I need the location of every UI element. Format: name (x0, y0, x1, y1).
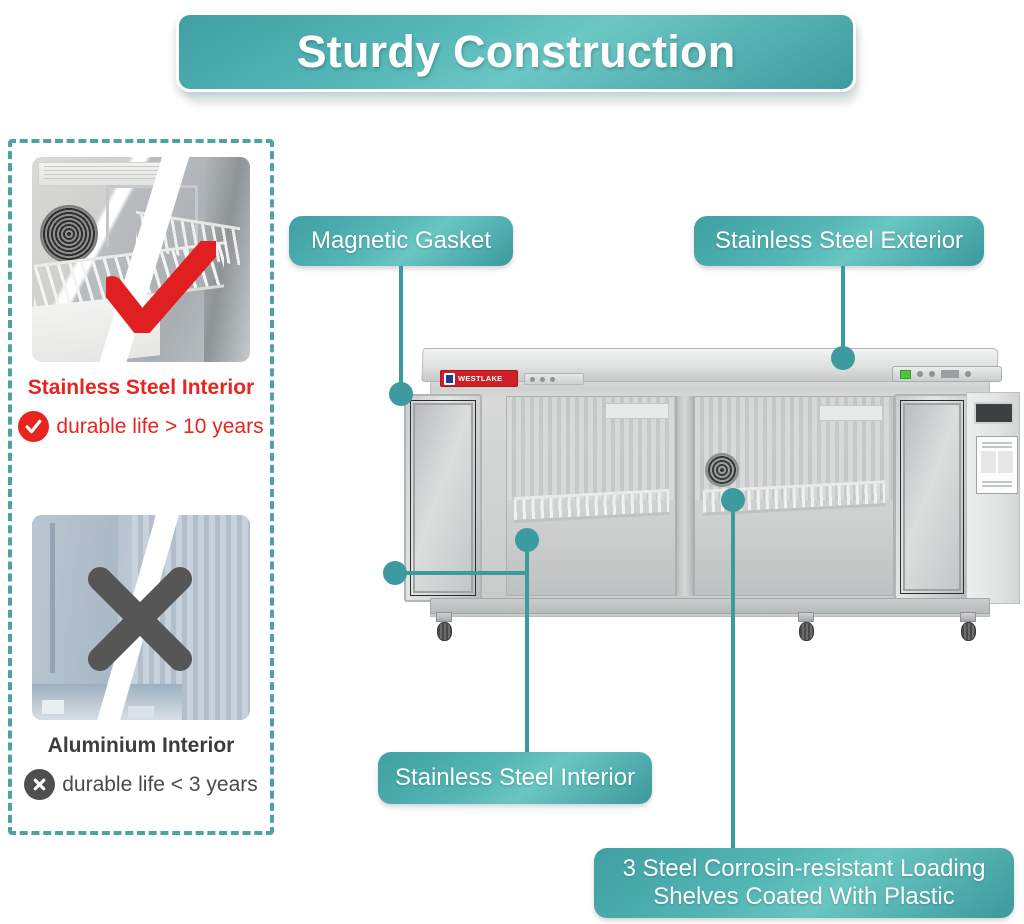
connector-dot-stainless-exterior (831, 346, 855, 370)
right-door-open[interactable] (894, 394, 970, 600)
cross-circle-icon (24, 769, 55, 800)
stainless-steel-interior-photo (32, 157, 250, 362)
page-title: Sturdy Construction (297, 26, 736, 78)
good-caption: Stainless Steel Interior (12, 376, 270, 400)
undercounter-refrigerator-image: WESTLAKE (400, 340, 1020, 670)
right-control-panel[interactable] (892, 366, 1002, 382)
bad-life-row: durable life < 3 years (12, 769, 270, 800)
connector-line-magnetic-gasket (399, 266, 403, 390)
bad-life-text: durable life < 3 years (62, 773, 258, 797)
brand-badge: WESTLAKE (440, 370, 518, 387)
callout-magnetic-gasket-label: Magnetic Gasket (311, 227, 491, 255)
infographic-canvas: Sturdy Construction Stainless Steel Inte… (0, 0, 1024, 924)
connector-line-loading-shelves (731, 500, 735, 850)
base-rail (430, 598, 990, 614)
callout-stainless-exterior-label: Stainless Steel Exterior (715, 227, 963, 255)
good-life-text: durable life > 10 years (56, 415, 263, 439)
callout-loading-shelves-line2: Shelves Coated With Plastic (653, 883, 954, 911)
display-window (941, 370, 959, 378)
vent-grille (974, 402, 1014, 424)
good-life-row: durable life > 10 years (12, 411, 270, 442)
callout-stainless-interior-label: Stainless Steel Interior (395, 764, 635, 792)
callout-stainless-exterior[interactable]: Stainless Steel Exterior (694, 216, 984, 266)
bad-caption: Aluminium Interior (12, 734, 270, 758)
caster-wheel (798, 612, 814, 642)
center-divider-left (676, 396, 694, 596)
connector-line-stainless-exterior (841, 266, 845, 356)
spec-label (976, 436, 1018, 494)
red-check-icon (106, 241, 216, 333)
caster-wheel (436, 612, 452, 642)
callout-magnetic-gasket[interactable]: Magnetic Gasket (289, 216, 513, 266)
callout-loading-shelves-line1: 3 Steel Corrosin-resistant Loading (623, 855, 986, 883)
westlake-logo-icon (444, 373, 455, 385)
title-banner: Sturdy Construction (176, 12, 856, 92)
aluminium-interior-photo (32, 515, 250, 720)
comparison-bad-block: Aluminium Interior durable life < 3 year… (12, 515, 270, 800)
brand-name: WESTLAKE (458, 374, 502, 383)
check-circle-icon (18, 411, 49, 442)
gray-cross-icon (84, 563, 196, 675)
callout-loading-shelves[interactable]: 3 Steel Corrosin-resistant Loading Shelv… (594, 848, 1014, 918)
connector-dot-magnetic-gasket (389, 382, 413, 406)
connector-hline-stainless-interior (395, 571, 527, 575)
connector-line-stainless-interior (525, 540, 529, 752)
callout-stainless-interior[interactable]: Stainless Steel Interior (378, 752, 652, 804)
left-compartment (506, 396, 676, 596)
comparison-good-block: Stainless Steel Interior durable life > … (12, 157, 270, 442)
power-indicator-led (900, 370, 911, 379)
left-control-strip (524, 373, 584, 385)
caster-wheel (960, 612, 976, 642)
comparison-panel: Stainless Steel Interior durable life > … (8, 139, 274, 835)
